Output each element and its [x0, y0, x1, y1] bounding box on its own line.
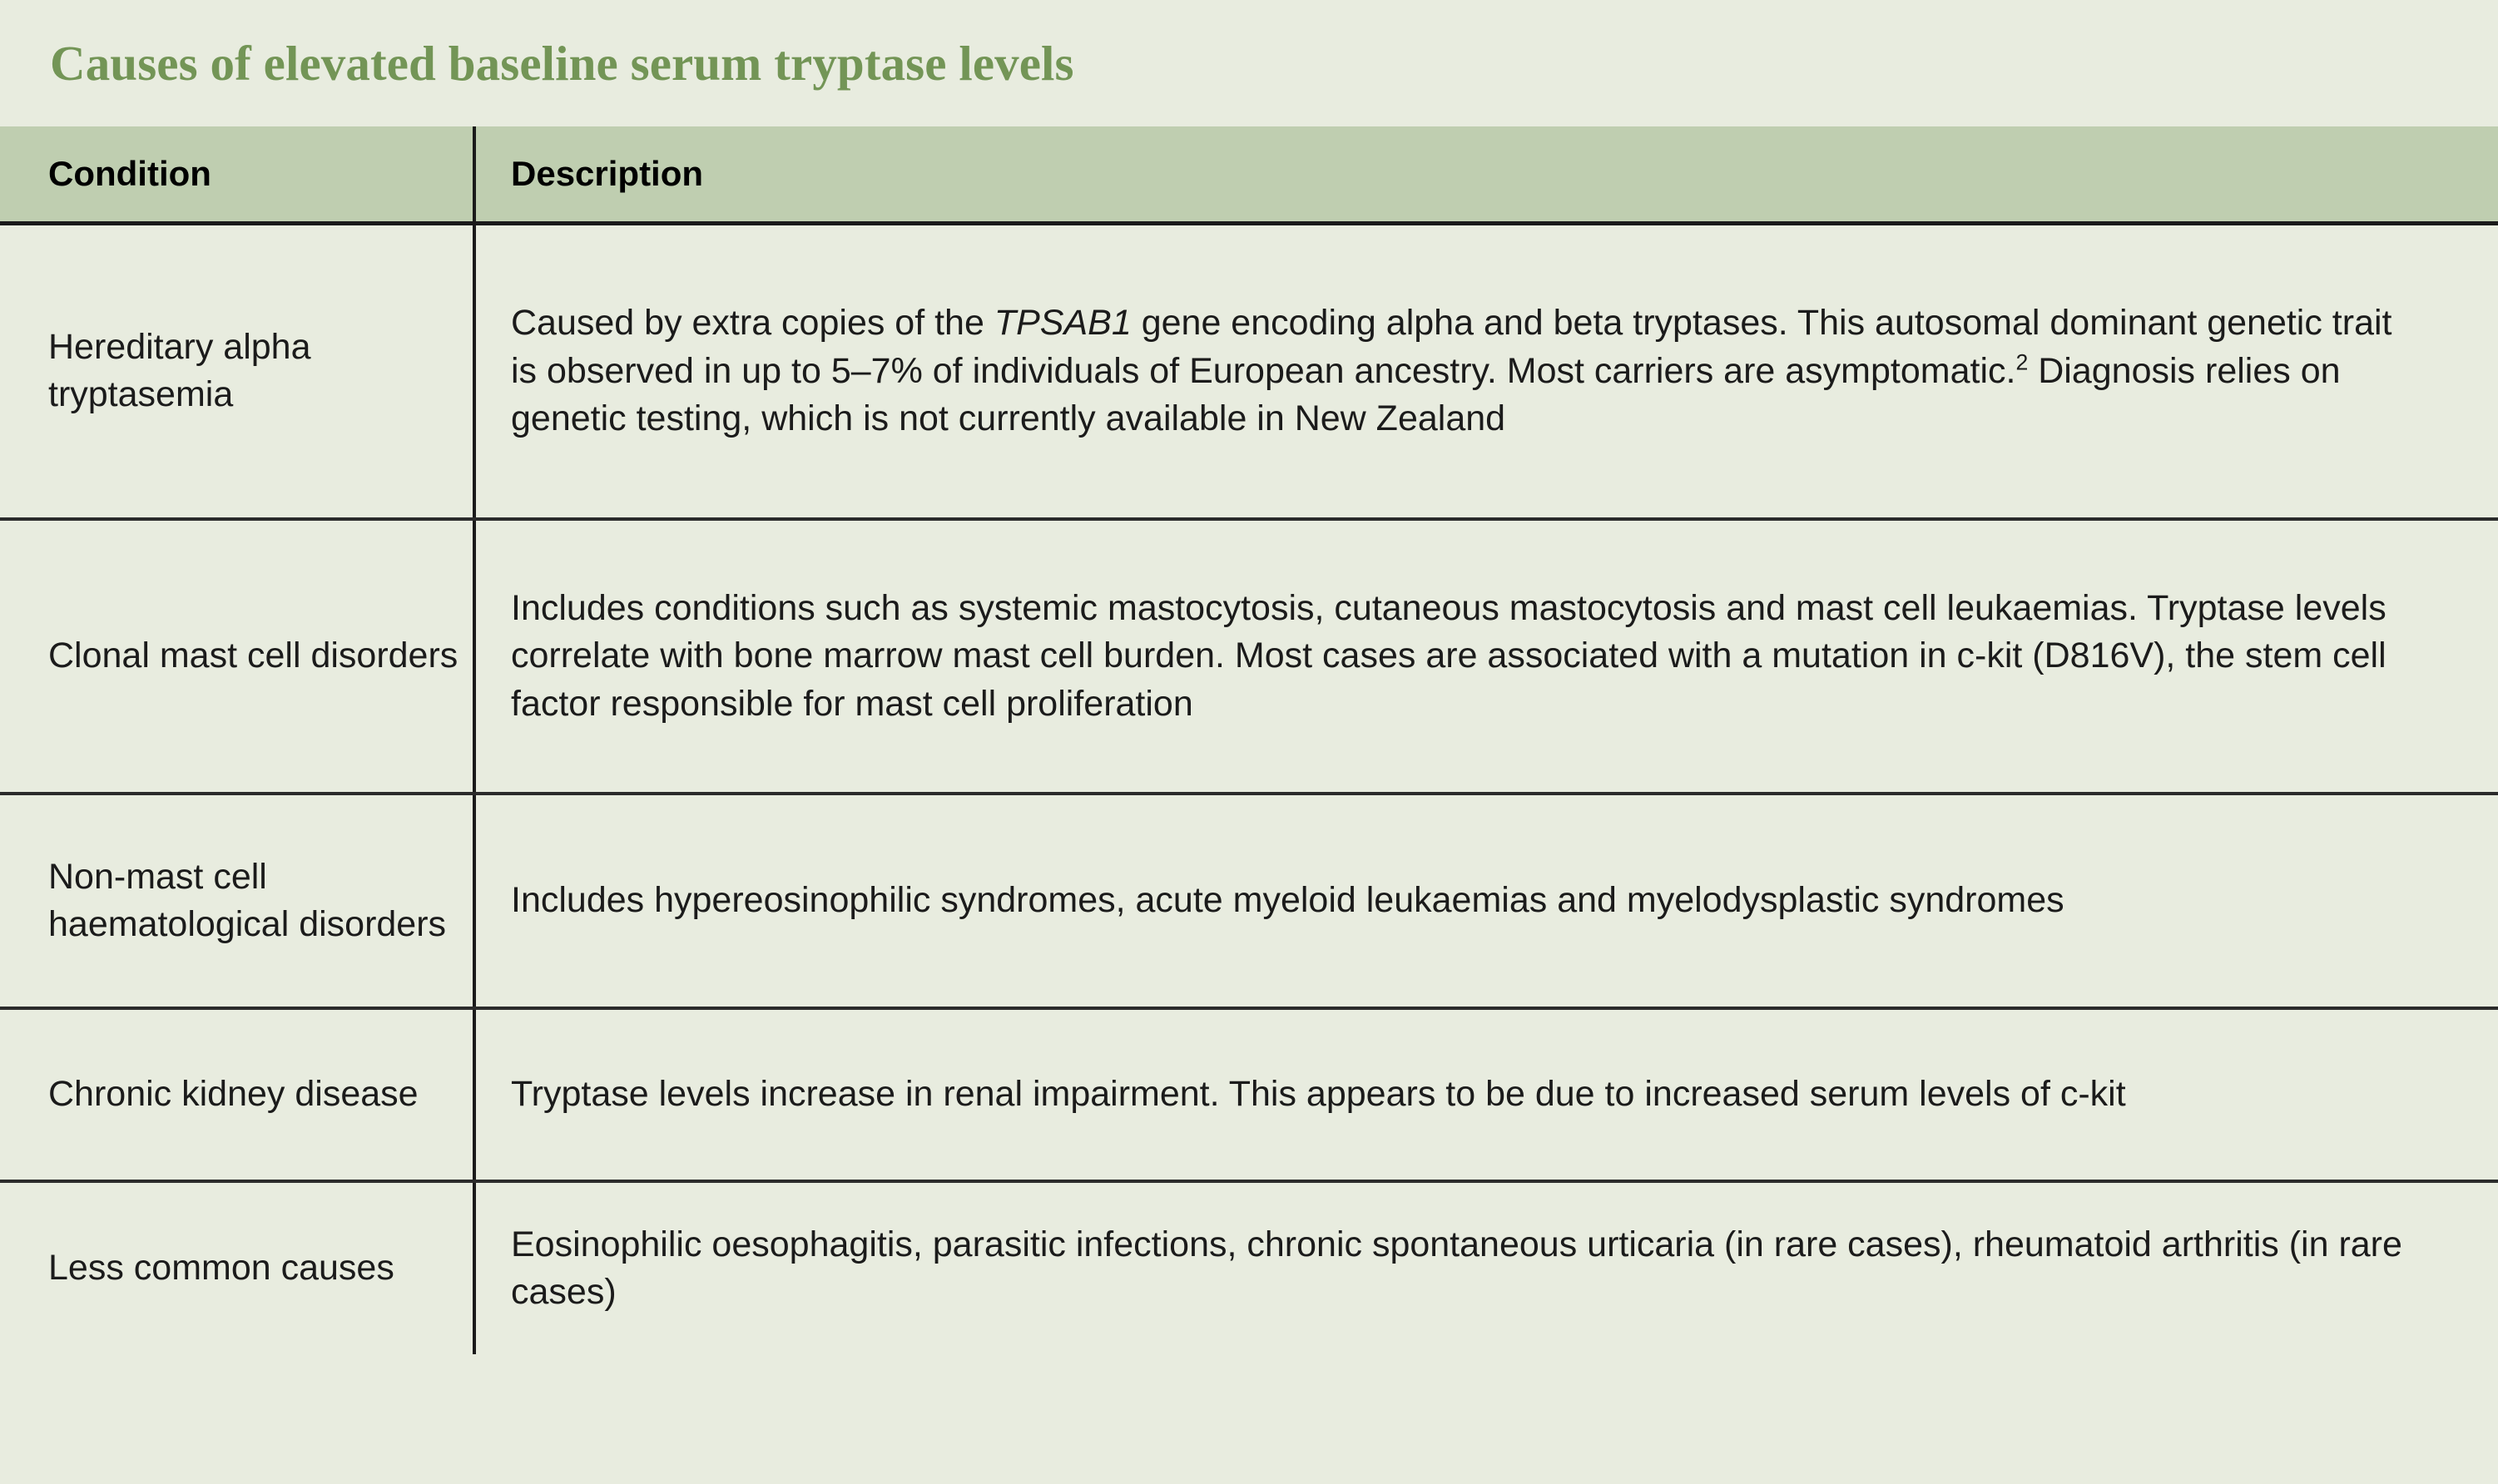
table-figure: Causes of elevated baseline serum trypta…	[0, 0, 2498, 1484]
table-row: Clonal mast cell disorders Includes cond…	[0, 519, 2498, 794]
footnote-reference: 2	[2015, 349, 2028, 374]
cell-condition: Clonal mast cell disorders	[0, 519, 474, 794]
description-text: Caused by extra copies of the TPSAB1 gen…	[511, 299, 2405, 443]
cell-condition: Non-mast cell haematological disorders	[0, 794, 474, 1008]
figure-title: Causes of elevated baseline serum trypta…	[50, 35, 1074, 92]
causes-table: Condition Description Hereditary alpha t…	[0, 126, 2498, 1354]
gene-name-tpsab1: TPSAB1	[994, 303, 1132, 343]
cell-description: Includes hypereosinophilic syndromes, ac…	[474, 794, 2498, 1008]
cell-description: Eosinophilic oesophagitis, parasitic inf…	[474, 1181, 2498, 1354]
cell-description: Tryptase levels increase in renal impair…	[474, 1008, 2498, 1181]
table-row: Less common causes Eosinophilic oesophag…	[0, 1181, 2498, 1354]
table-row: Non-mast cell haematological disorders I…	[0, 794, 2498, 1008]
table-row: Hereditary alpha tryptasemia Caused by e…	[0, 223, 2498, 519]
figure-title-band: Causes of elevated baseline serum trypta…	[0, 0, 2498, 126]
table-body: Hereditary alpha tryptasemia Caused by e…	[0, 223, 2498, 1354]
cell-condition: Hereditary alpha tryptasemia	[0, 223, 474, 519]
table-header: Condition Description	[0, 126, 2498, 223]
column-header-description: Description	[474, 126, 2498, 223]
table-bottom-filler	[0, 1441, 2498, 1484]
cell-description: Includes conditions such as systemic mas…	[474, 519, 2498, 794]
cell-condition: Chronic kidney disease	[0, 1008, 474, 1181]
table-header-row: Condition Description	[0, 126, 2498, 223]
column-header-condition: Condition	[0, 126, 474, 223]
description-segment-a: Caused by extra copies of the	[511, 303, 994, 343]
table-row: Chronic kidney disease Tryptase levels i…	[0, 1008, 2498, 1181]
cell-description: Caused by extra copies of the TPSAB1 gen…	[474, 223, 2498, 519]
cell-condition: Less common causes	[0, 1181, 474, 1354]
